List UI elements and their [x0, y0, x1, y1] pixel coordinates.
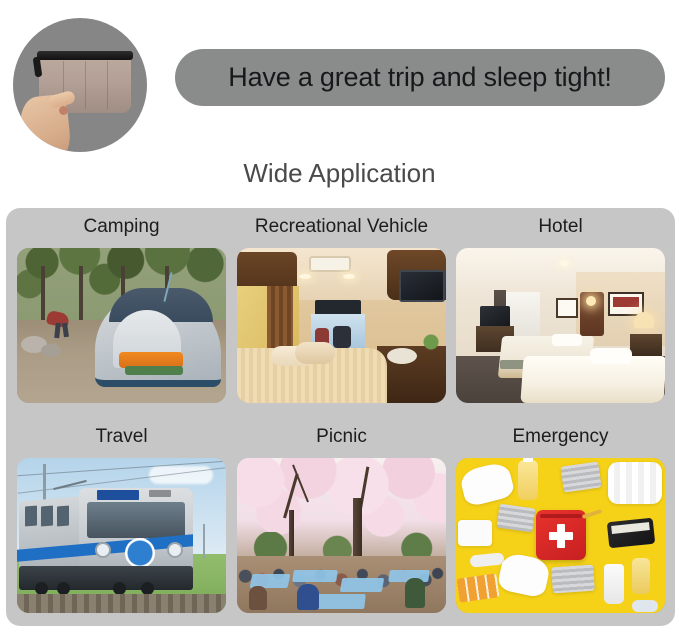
hero-section: Have a great trip and sleep tight! [0, 0, 679, 150]
photo-hotel [456, 248, 665, 403]
product-image-circle [13, 18, 147, 152]
cell-label-recreational-vehicle: Recreational Vehicle [237, 216, 446, 238]
grid-row-2: Travel [6, 426, 675, 626]
photo-emergency [456, 458, 665, 613]
fingertip-icon [59, 106, 68, 115]
grid-cell-picnic: Picnic [237, 426, 446, 622]
tagline-banner: Have a great trip and sleep tight! [175, 49, 665, 106]
photo-recreational-vehicle [237, 248, 446, 403]
hotel-tv-icon [480, 306, 510, 328]
grid-cell-travel: Travel [17, 426, 226, 622]
first-aid-kit-icon [536, 510, 586, 560]
phone-icon [607, 518, 655, 549]
photo-travel [17, 458, 226, 613]
photo-camping [17, 248, 226, 403]
cell-label-travel: Travel [17, 426, 226, 448]
face-mask-icon [608, 462, 662, 504]
application-grid-panel: Camping [6, 208, 675, 626]
poster-canvas: Have a great trip and sleep tight! Wide … [0, 0, 679, 636]
grid-cell-recreational-vehicle: Recreational Vehicle [237, 216, 446, 412]
photo-picnic [237, 458, 446, 613]
grid-cell-emergency: Emergency [456, 426, 665, 622]
grid-cell-camping: Camping [17, 216, 226, 412]
section-title: Wide Application [0, 158, 679, 189]
pill-blister-icon [457, 573, 500, 602]
tagline-text: Have a great trip and sleep tight! [228, 62, 611, 93]
destination-sign [97, 490, 139, 500]
grid-cell-hotel: Hotel [456, 216, 665, 412]
grid-row-1: Camping [6, 216, 675, 416]
cell-label-camping: Camping [17, 216, 226, 238]
zipper-icon [37, 51, 133, 60]
glove-icon [458, 460, 515, 507]
lamp-icon [634, 312, 654, 328]
cell-label-picnic: Picnic [237, 426, 446, 448]
cell-label-emergency: Emergency [456, 426, 665, 448]
rv-tv-icon [399, 270, 445, 302]
cell-label-hotel: Hotel [456, 216, 665, 238]
